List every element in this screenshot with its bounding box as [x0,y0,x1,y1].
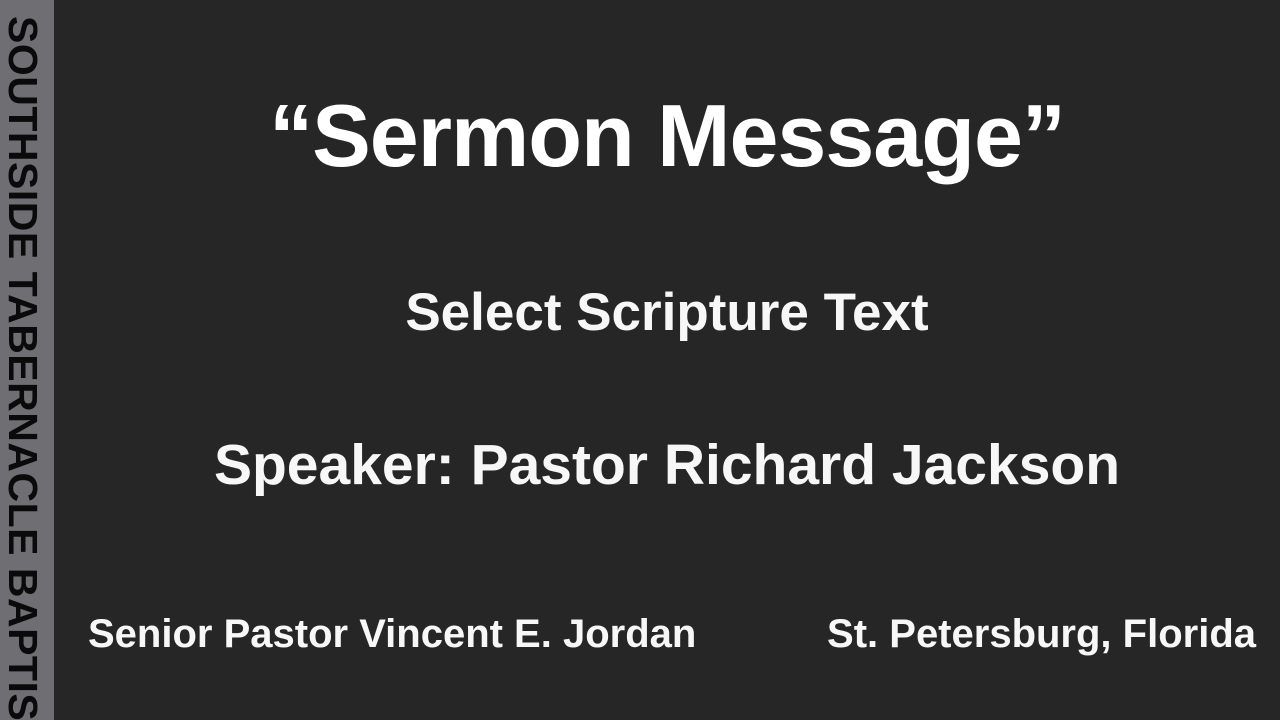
senior-pastor-label: Senior Pastor Vincent E. Jordan [88,614,696,654]
sermon-title: “Sermon Message” [54,92,1280,180]
slide-footer: Senior Pastor Vincent E. Jordan St. Pete… [54,604,1280,664]
slide-content: “Sermon Message” Select Scripture Text S… [54,0,1280,720]
scripture-reference: Select Scripture Text [54,286,1280,339]
church-name-vertical: SOUTHSIDE TABERNACLE BAPTIST [0,0,50,720]
speaker-name: Speaker: Pastor Richard Jackson [54,437,1280,494]
church-location-label: St. Petersburg, Florida [827,614,1256,654]
vertical-brand-bar: SOUTHSIDE TABERNACLE BAPTIST [0,0,54,720]
sermon-slide: SOUTHSIDE TABERNACLE BAPTIST “Sermon Mes… [0,0,1280,720]
